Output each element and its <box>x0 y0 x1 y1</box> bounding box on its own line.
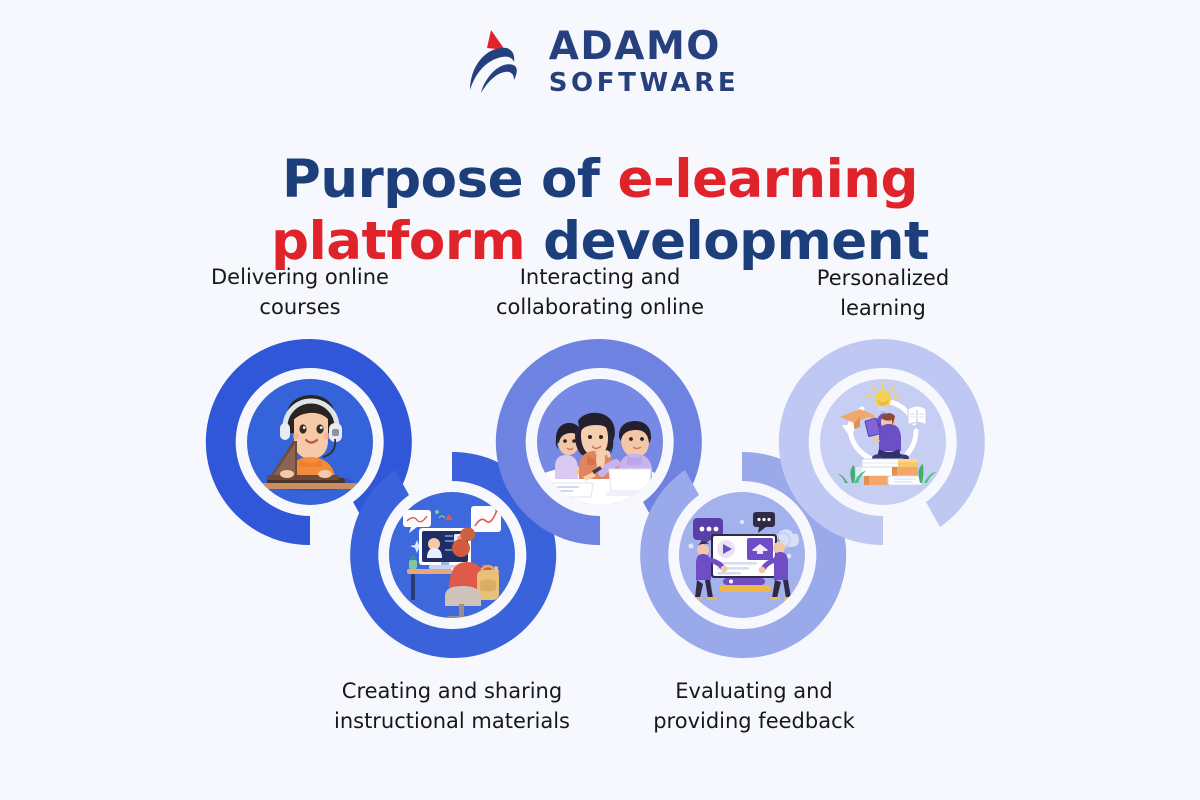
title-accent-1: e-learning <box>617 149 918 210</box>
node-label-evaluating-providing-feedback: Evaluating and providing feedback <box>609 677 899 737</box>
person-reading-on-stack-of-books-icon <box>820 379 946 505</box>
title-part-1: Purpose of <box>282 149 617 210</box>
node-label-personalized-learning: Personalized learning <box>738 264 1028 324</box>
label-line-1: Evaluating and <box>609 677 899 707</box>
brand-logo: ADAMO SOFTWARE <box>0 24 1200 98</box>
infographic-canvas: ADAMO SOFTWARE Purpose of e-learningplat… <box>0 0 1200 800</box>
label-line-1: Creating and sharing <box>307 677 597 707</box>
adamo-swoosh-logo-icon <box>461 24 535 98</box>
label-line-1: Interacting and <box>455 263 745 293</box>
brand-wordmark: ADAMO SOFTWARE <box>549 27 740 96</box>
label-line-2: instructional materials <box>307 707 597 737</box>
label-line-2: courses <box>155 293 445 323</box>
node-label-delivering-online-courses: Delivering online courses <box>155 263 445 323</box>
page-title: Purpose of e-learningplatform developmen… <box>0 149 1200 273</box>
label-line-1: Delivering online <box>155 263 445 293</box>
node-illustration-5 <box>820 379 946 505</box>
node-personalized-learning[interactable] <box>780 339 986 545</box>
node-label-creating-sharing-instructional-materials: Creating and sharing instructional mater… <box>307 677 597 737</box>
label-line-2: collaborating online <box>455 293 745 323</box>
node-label-interacting-collaborating-online: Interacting and collaborating online <box>455 263 745 323</box>
label-line-1: Personalized <box>738 264 1028 294</box>
brand-name-secondary: SOFTWARE <box>549 70 740 96</box>
brand-name-primary: ADAMO <box>549 27 740 66</box>
label-line-2: learning <box>738 294 1028 324</box>
label-line-2: providing feedback <box>609 707 899 737</box>
